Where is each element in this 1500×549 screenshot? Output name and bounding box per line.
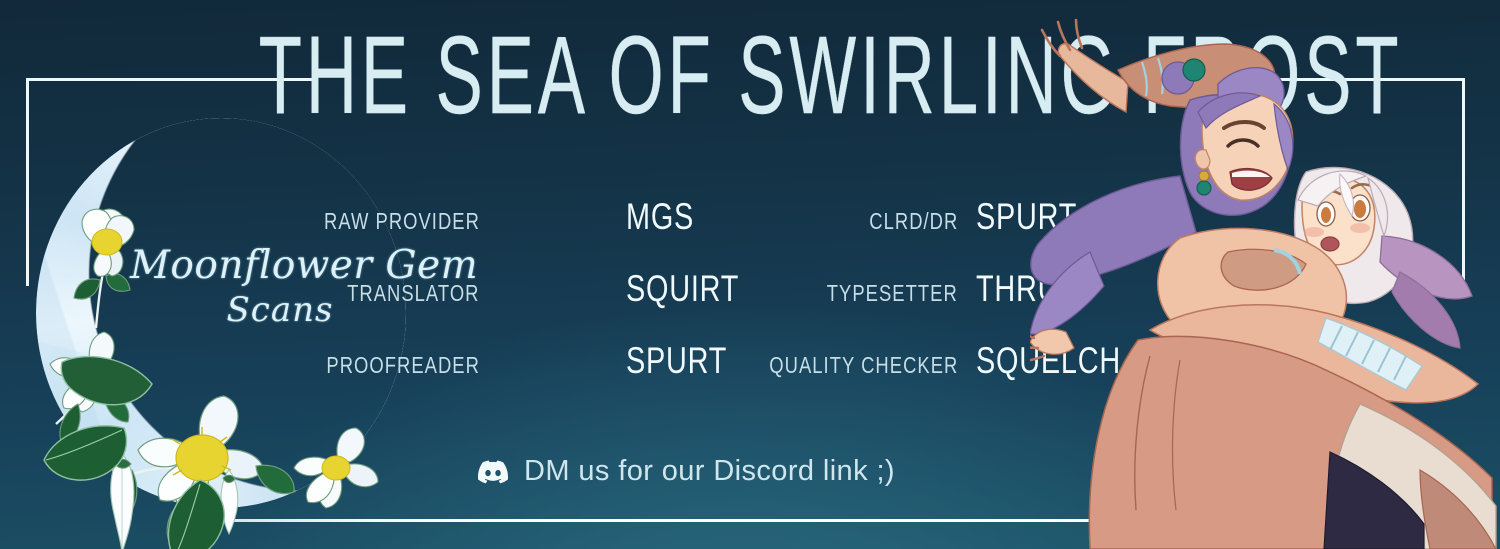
- credit-label: TRANSLATOR: [348, 280, 480, 307]
- discord-invite-text[interactable]: DM us for our Discord link ;): [524, 455, 895, 488]
- credit-value: SQUIRT: [626, 268, 739, 310]
- credit-label: PROOFREADER: [326, 352, 480, 379]
- discord-icon[interactable]: [478, 457, 508, 487]
- scanlation-credits-page: THE SEA OF SWIRLING FROST: [0, 0, 1500, 549]
- credit-value: SPURT: [626, 340, 727, 382]
- chapter-illustration: [1030, 0, 1500, 549]
- credit-value: MGS: [626, 196, 694, 238]
- leaf-icon: [56, 350, 166, 441]
- credit-label: RAW PROVIDER: [324, 208, 480, 235]
- leaf-icon: [158, 476, 238, 549]
- discord-invite-row[interactable]: DM us for our Discord link ;): [478, 455, 895, 488]
- moonflower-gem-scans-logo: Moonflower Gem Scans: [18, 118, 428, 533]
- credit-label: QUALITY CHECKER: [769, 352, 958, 379]
- morning-glory-flower-icon: [280, 418, 390, 528]
- credit-label: TYPESETTER: [827, 280, 958, 307]
- credit-label: CLRD/DR: [869, 208, 958, 235]
